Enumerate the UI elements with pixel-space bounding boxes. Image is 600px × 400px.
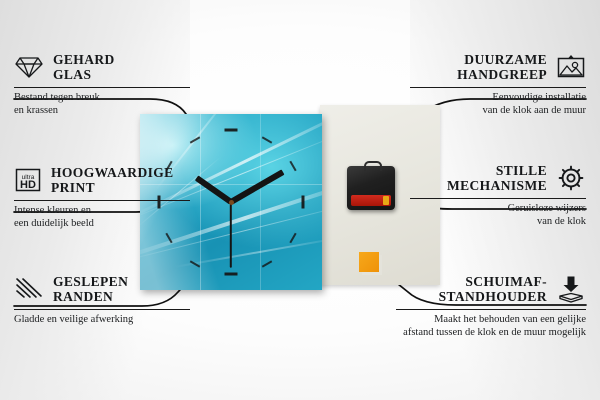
feature-description: Intense kleuren en een duidelijk beeld bbox=[14, 205, 190, 230]
glass-grid-line bbox=[260, 114, 261, 290]
foam-spacer bbox=[359, 252, 379, 272]
feature-divider bbox=[14, 87, 190, 88]
feature-header: SCHUIMAF- STANDHOUDER bbox=[396, 274, 586, 304]
feature-title-line1: SCHUIMAF- bbox=[439, 274, 547, 289]
second-hand bbox=[230, 202, 232, 268]
feature-divider bbox=[396, 309, 586, 310]
feature-title-line2: GLAS bbox=[53, 67, 115, 82]
feature-description: Gladde en veilige afwerking bbox=[14, 314, 190, 327]
feature-title: STILLE MECHANISME bbox=[447, 163, 547, 193]
feature-title-line2: STANDHOUDER bbox=[439, 289, 547, 304]
feature-title-line1: GEHARD bbox=[53, 52, 115, 67]
feature-divider bbox=[410, 87, 586, 88]
feature-title: DUURZAME HANDGREEP bbox=[457, 52, 547, 82]
feature-title-line1: DUURZAME bbox=[457, 52, 547, 67]
feature-description: Bestand tegen breuk en krassen bbox=[14, 92, 190, 117]
feature-title: SCHUIMAF- STANDHOUDER bbox=[439, 274, 547, 304]
feature-hoogwaardige-print: ultra HD HOOGWAARDIGE PRINT Intense kleu… bbox=[14, 165, 190, 230]
feature-title: GEHARD GLAS bbox=[53, 52, 115, 82]
feature-desc-line2: van de klok aan de muur bbox=[410, 105, 586, 118]
feature-description: Maakt het behouden van een gelijke afsta… bbox=[396, 314, 586, 339]
feature-header: GEHARD GLAS bbox=[14, 52, 190, 82]
feature-title: GESLEPEN RANDEN bbox=[53, 274, 128, 304]
clock-tick bbox=[290, 233, 297, 244]
clock-tick bbox=[302, 196, 305, 209]
feature-title-line2: HANDGREEP bbox=[457, 67, 547, 82]
feature-desc-line1: Geruisloze wijzers bbox=[410, 203, 586, 216]
feature-title: HOOGWAARDIGE PRINT bbox=[51, 165, 174, 195]
battery-terminal bbox=[383, 196, 389, 205]
feature-description: Geruisloze wijzers van de klok bbox=[410, 203, 586, 228]
feature-schuimafstandhouder: SCHUIMAF- STANDHOUDER Maakt het behouden… bbox=[396, 274, 586, 339]
feature-header: ultra HD HOOGWAARDIGE PRINT bbox=[14, 165, 190, 195]
feature-title-line1: STILLE bbox=[447, 163, 547, 178]
feature-title-line2: MECHANISME bbox=[447, 178, 547, 193]
clock-tick bbox=[290, 161, 297, 172]
feature-desc-line1: Eenvoudige installatie bbox=[410, 92, 586, 105]
feature-duurzame-handgreep: DUURZAME HANDGREEP Eenvoudige installati… bbox=[410, 52, 586, 117]
feature-header: GESLEPEN RANDEN bbox=[14, 274, 190, 304]
picture-frame-icon bbox=[556, 54, 586, 80]
clock-tick bbox=[225, 129, 238, 132]
feature-desc-line2: een duidelijk beeld bbox=[14, 218, 190, 231]
feature-stille-mechanisme: STILLE MECHANISME Geruisloze wijzers van… bbox=[410, 163, 586, 228]
diagonal-lines-icon bbox=[14, 276, 44, 302]
clock-movement bbox=[347, 166, 395, 210]
feature-desc-line1: Intense kleuren en bbox=[14, 205, 190, 218]
feature-description: Eenvoudige installatie van de klok aan d… bbox=[410, 92, 586, 117]
battery bbox=[351, 195, 391, 206]
feature-desc-line2: van de klok bbox=[410, 216, 586, 229]
feature-divider bbox=[410, 198, 586, 199]
feature-divider bbox=[14, 309, 190, 310]
infographic-canvas: GEHARD GLAS Bestand tegen breuk en krass… bbox=[0, 0, 600, 400]
feature-divider bbox=[14, 200, 190, 201]
diamond-icon bbox=[14, 54, 44, 80]
gear-icon bbox=[556, 164, 586, 192]
feature-desc-line1: Maakt het behouden van een gelijke bbox=[396, 314, 586, 327]
ultra-hd-icon: ultra HD bbox=[14, 166, 42, 194]
feature-title-line2: PRINT bbox=[51, 180, 174, 195]
clock-tick bbox=[225, 273, 238, 276]
press-down-pad-icon bbox=[556, 275, 586, 303]
clock-tick bbox=[262, 136, 273, 143]
feature-title-line2: RANDEN bbox=[53, 289, 128, 304]
feature-title-line1: HOOGWAARDIGE bbox=[51, 165, 174, 180]
clock-tick bbox=[262, 261, 273, 268]
clock-center-cap bbox=[229, 200, 234, 205]
feature-geslepen-randen: GESLEPEN RANDEN Gladde en veilige afwerk… bbox=[14, 274, 190, 327]
feature-desc-line1: Gladde en veilige afwerking bbox=[14, 314, 190, 327]
feature-desc-line2: en krassen bbox=[14, 105, 190, 118]
glass-grid-line bbox=[200, 114, 201, 290]
feature-desc-line2: afstand tussen de klok en de muur mogeli… bbox=[396, 327, 586, 340]
feature-header: DUURZAME HANDGREEP bbox=[410, 52, 586, 82]
feature-title-line1: GESLEPEN bbox=[53, 274, 128, 289]
ultra-hd-icon-bottom-text: HD bbox=[20, 179, 36, 191]
movement-hanger bbox=[364, 161, 382, 171]
feature-desc-line1: Bestand tegen breuk bbox=[14, 92, 190, 105]
feature-header: STILLE MECHANISME bbox=[410, 163, 586, 193]
feature-gehard-glas: GEHARD GLAS Bestand tegen breuk en krass… bbox=[14, 52, 190, 117]
